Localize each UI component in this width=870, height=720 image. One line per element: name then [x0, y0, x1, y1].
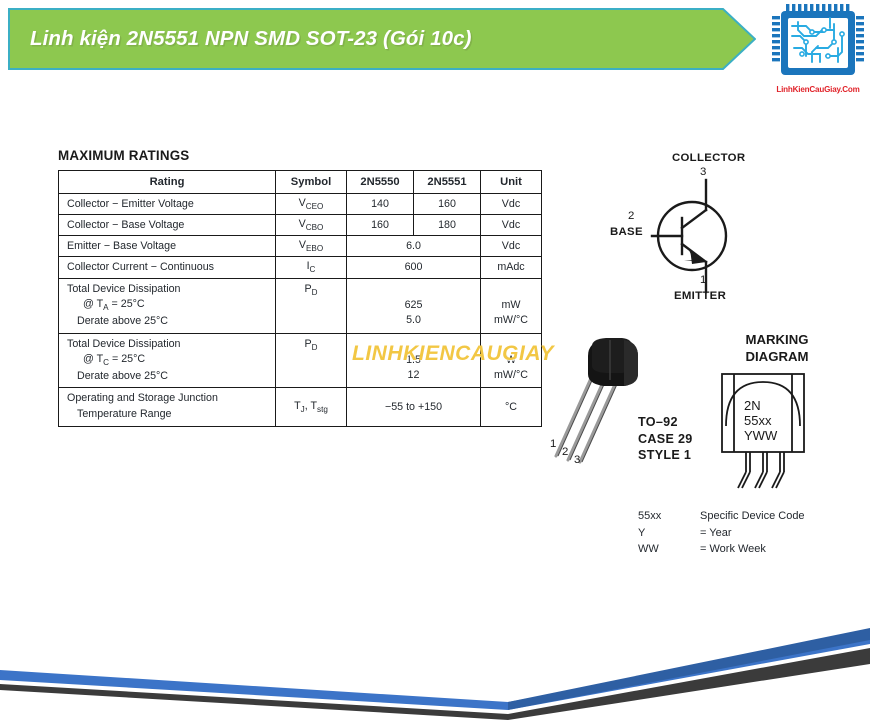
cell-unit: Vdc	[481, 236, 542, 257]
table-row: Total Device Dissipation @ TA = 25°C Der…	[59, 278, 542, 333]
dissipation-title: Total Device Dissipation	[67, 338, 180, 350]
emitter-pin-number: 1	[700, 274, 706, 286]
column-header-2n5551: 2N5551	[414, 171, 481, 194]
package-case: CASE 29	[638, 431, 693, 448]
cell-rating: Emitter − Base Voltage	[59, 236, 276, 257]
dissipation-condition: @ TC = 25°C	[67, 352, 270, 369]
marking-legend: 55xx Specific Device Code Y = Year WW = …	[638, 508, 868, 558]
site-logo[interactable]: LinhKienCauGiay.Com	[772, 4, 864, 100]
header-banner: Linh kiện 2N5551 NPN SMD SOT-23 (Gói 10c…	[8, 8, 756, 70]
cell-2n5551: 160	[414, 194, 481, 215]
symbol-subscript-2: stg	[317, 405, 328, 414]
dissipation-unit-b: mW/°C	[486, 313, 536, 329]
legend-row: Y = Year	[638, 525, 805, 542]
ratings-heading: MAXIMUM RATINGS	[58, 148, 498, 163]
marking-text-1: 2N	[744, 398, 761, 413]
symbol-subscript: J	[301, 405, 305, 414]
symbol-main: V	[299, 239, 306, 251]
dissipation-value-a: 1.5	[352, 353, 475, 369]
marking-text-3: YWW	[744, 428, 778, 443]
cell-value-span: −55 to +150	[347, 388, 481, 426]
emitter-label: EMITTER	[674, 290, 726, 302]
table-row: Collector − Base Voltage VCBO 160 180 Vd…	[59, 215, 542, 236]
legend-row: 55xx Specific Device Code	[638, 508, 805, 525]
legend-value: = Year	[700, 525, 805, 542]
spacer: .	[412, 338, 415, 350]
cell-symbol: PD	[276, 278, 347, 333]
maximum-ratings-block: MAXIMUM RATINGS Rating Symbol 2N5550 2N5…	[58, 148, 498, 427]
dissipation-condition: @ TA = 25°C	[67, 297, 270, 314]
cell-2n5550: 160	[347, 215, 414, 236]
symbol-subscript: CBO	[306, 223, 324, 232]
spacer: .	[510, 283, 513, 295]
base-label: BASE	[610, 226, 643, 238]
dissipation-title: Total Device Dissipation	[67, 283, 180, 295]
marking-text-2: 55xx	[744, 413, 772, 428]
column-header-unit: Unit	[481, 171, 542, 194]
cell-value-span: 600	[347, 257, 481, 278]
symbol-subscript: CEO	[306, 202, 324, 211]
marking-legend-table: 55xx Specific Device Code Y = Year WW = …	[638, 508, 805, 558]
package-pin-2: 2	[562, 446, 568, 458]
table-row: Collector − Emitter Voltage VCEO 140 160…	[59, 194, 542, 215]
cell-rating: Collector Current − Continuous	[59, 257, 276, 278]
cell-symbol: PD	[276, 333, 347, 388]
cell-unit: . mW mW/°C	[481, 278, 542, 333]
legend-key: WW	[638, 541, 700, 558]
dissipation-value-a: 625	[352, 298, 475, 314]
symbol-subscript: D	[312, 288, 318, 297]
collector-label: COLLECTOR	[672, 152, 745, 164]
column-header-symbol: Symbol	[276, 171, 347, 194]
legend-value: = Work Week	[700, 541, 805, 558]
cell-unit: Vdc	[481, 194, 542, 215]
logo-wordmark: LinhKienCauGiay.Com	[775, 84, 861, 94]
cell-rating: Operating and Storage Junction Temperatu…	[59, 388, 276, 426]
symbol-main: P	[304, 338, 311, 350]
legend-key: 55xx	[638, 508, 700, 525]
symbol-main: V	[299, 197, 306, 209]
cell-symbol: TJ, Tstg	[276, 388, 347, 426]
package-style: STYLE 1	[638, 447, 693, 464]
cell-value-span: 6.0	[347, 236, 481, 257]
page-title: Linh kiện 2N5551 NPN SMD SOT-23 (Gói 10c…	[30, 8, 472, 70]
junction-line1: Operating and Storage Junction	[67, 392, 218, 404]
dissipation-unit-a: mW	[486, 298, 536, 314]
package-type: TO–92	[638, 414, 693, 431]
table-row: Emitter − Base Voltage VEBO 6.0 Vdc	[59, 236, 542, 257]
symbol-main: P	[304, 283, 311, 295]
symbol-subscript: EBO	[306, 244, 323, 253]
cell-symbol: VCBO	[276, 215, 347, 236]
symbol-main: V	[299, 218, 306, 230]
cell-2n5551: 180	[414, 215, 481, 236]
cell-rating: Collector − Base Voltage	[59, 215, 276, 236]
package-pin-1: 1	[550, 438, 556, 450]
transistor-symbol-figure: COLLECTOR 3 2 BASE 1 EMITTER	[600, 148, 800, 318]
package-caption: TO–92 CASE 29 STYLE 1	[638, 414, 693, 464]
junction-line2: Temperature Range	[67, 407, 270, 423]
cell-rating: Collector − Emitter Voltage	[59, 194, 276, 215]
table-row: Operating and Storage Junction Temperatu…	[59, 388, 542, 426]
symbol-subscript: D	[312, 343, 318, 352]
dissipation-derate: Derate above 25°C	[67, 369, 270, 385]
cell-rating: Total Device Dissipation @ TA = 25°C Der…	[59, 278, 276, 333]
package-pin-3: 3	[574, 454, 580, 466]
cell-symbol: VEBO	[276, 236, 347, 257]
cell-symbol: IC	[276, 257, 347, 278]
cell-unit: mAdc	[481, 257, 542, 278]
maximum-ratings-table: Rating Symbol 2N5550 2N5551 Unit Collect…	[58, 170, 542, 427]
base-pin-number: 2	[628, 210, 634, 222]
dissipation-value-b: 12	[352, 368, 475, 384]
column-header-rating: Rating	[59, 171, 276, 194]
chip-logo-icon	[772, 4, 864, 82]
cell-2n5550: 140	[347, 194, 414, 215]
table-row: Total Device Dissipation @ TC = 25°C Der…	[59, 333, 542, 388]
spacer: .	[510, 338, 513, 350]
cell-unit: Vdc	[481, 215, 542, 236]
legend-row: WW = Work Week	[638, 541, 805, 558]
cell-symbol: VCEO	[276, 194, 347, 215]
column-header-2n5550: 2N5550	[347, 171, 414, 194]
datasheet-image: MAXIMUM RATINGS Rating Symbol 2N5550 2N5…	[0, 110, 870, 610]
legend-key: Y	[638, 525, 700, 542]
package-figure: 1 2 3 TO–92 CASE 29 STYLE 1	[520, 332, 720, 482]
table-header-row: Rating Symbol 2N5550 2N5551 Unit	[59, 171, 542, 194]
table-row: Collector Current − Continuous IC 600 mA…	[59, 257, 542, 278]
cell-value-span: . 625 5.0	[347, 278, 481, 333]
cell-value-span: . 1.5 12	[347, 333, 481, 388]
legend-value: Specific Device Code	[700, 508, 805, 525]
marking-diagram-figure: 2N 55xx YWW	[692, 328, 862, 498]
collector-pin-number: 3	[700, 166, 706, 178]
cell-rating: Total Device Dissipation @ TC = 25°C Der…	[59, 333, 276, 388]
spacer: .	[412, 283, 415, 295]
dissipation-value-b: 5.0	[352, 313, 475, 329]
bottom-decoration	[0, 626, 870, 720]
symbol-subscript: C	[310, 266, 316, 275]
dissipation-derate: Derate above 25°C	[67, 314, 270, 330]
